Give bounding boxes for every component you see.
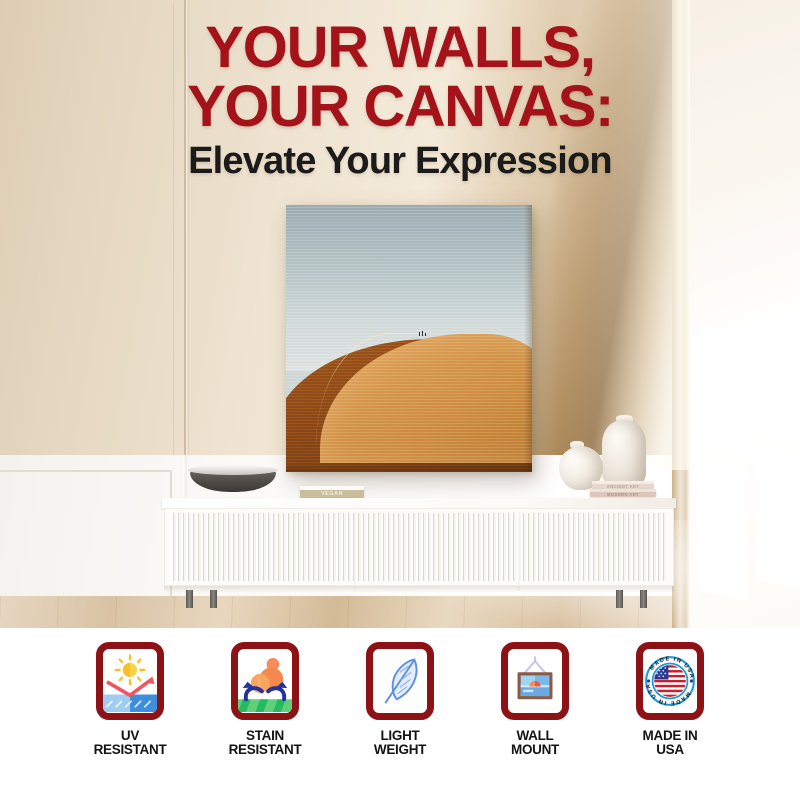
feature-label-line2: RESISTANT bbox=[229, 742, 302, 757]
feature-wall-mount[interactable]: WALL MOUNT bbox=[480, 642, 590, 757]
sunlight-pane bbox=[756, 313, 800, 442]
feature-label-line1: STAIN bbox=[246, 728, 284, 743]
feature-uv-resistant[interactable]: UV RESISTANT bbox=[75, 642, 185, 757]
sideboard-door-divider bbox=[518, 512, 520, 590]
feature-label: UV RESISTANT bbox=[94, 729, 167, 757]
feature-label-line2: WEIGHT bbox=[374, 742, 426, 757]
feature-label: STAIN RESISTANT bbox=[229, 729, 302, 757]
wainscot-panel-moulding bbox=[0, 470, 172, 610]
sideboard-top bbox=[162, 498, 676, 508]
feature-icon-box bbox=[501, 642, 569, 720]
headline-subtitle: Elevate Your Expression bbox=[0, 142, 800, 181]
bowl-rim bbox=[188, 465, 278, 475]
book-vegan-title: VEGAN bbox=[300, 491, 364, 497]
uv-resistant-icon bbox=[103, 649, 157, 713]
sideboard-leg bbox=[186, 590, 193, 608]
book-vegan: VEGAN bbox=[300, 486, 364, 498]
book-modern-art: MODERN ART bbox=[590, 489, 656, 497]
feature-label-line2: RESISTANT bbox=[94, 742, 167, 757]
feature-light-weight[interactable]: LIGHT WEIGHT bbox=[345, 642, 455, 757]
feature-icon-box bbox=[96, 642, 164, 720]
feature-icon-box: MADE IN USA MADE IN USA bbox=[636, 642, 704, 720]
feature-label: MADE IN USA bbox=[643, 729, 698, 757]
feature-label-line1: UV bbox=[121, 728, 139, 743]
sideboard-body bbox=[164, 508, 674, 586]
canvas-bottom-edge bbox=[286, 465, 532, 472]
feature-label-line1: LIGHT bbox=[380, 728, 419, 743]
sideboard-console bbox=[162, 498, 676, 606]
canvas-artwork bbox=[286, 205, 532, 472]
headline-block: YOUR WALLS, YOUR CANVAS: Elevate Your Ex… bbox=[0, 18, 800, 181]
feature-badges-strip: UV RESISTANT bbox=[0, 628, 800, 800]
canvas-side-edge bbox=[524, 205, 532, 472]
book-modern-art-title: MODERN ART bbox=[590, 492, 656, 497]
feature-stain-resistant[interactable]: STAIN RESISTANT bbox=[210, 642, 320, 757]
sideboard-shadow bbox=[164, 586, 674, 593]
sunlight-pane bbox=[756, 447, 800, 588]
feature-label-line2: MOUNT bbox=[511, 742, 559, 757]
sideboard-door-divider bbox=[354, 512, 356, 590]
canvas-weave-texture bbox=[286, 205, 532, 472]
wall-mount-icon bbox=[508, 649, 562, 713]
stain-resistant-icon bbox=[238, 649, 292, 713]
sideboard-leg bbox=[210, 590, 217, 608]
feature-label-line2: USA bbox=[656, 742, 684, 757]
made-in-usa-icon: MADE IN USA MADE IN USA bbox=[643, 649, 697, 713]
feature-label: WALL MOUNT bbox=[511, 729, 559, 757]
feature-label-line1: WALL bbox=[516, 728, 553, 743]
feature-icon-box bbox=[366, 642, 434, 720]
product-poster: VEGAN ANCIENT ART MODERN ART YOU bbox=[0, 0, 800, 800]
sunlight-pane bbox=[700, 461, 748, 601]
sideboard-fluted-front bbox=[171, 513, 667, 581]
headline-line-2: YOUR CANVAS: bbox=[0, 77, 800, 136]
feature-label: LIGHT WEIGHT bbox=[374, 729, 426, 757]
decorative-bowl bbox=[188, 465, 278, 493]
feature-made-in-usa[interactable]: MADE IN USA MADE IN USA MADE IN USA bbox=[615, 642, 725, 757]
light-weight-icon bbox=[373, 649, 427, 713]
vase-large bbox=[602, 420, 646, 488]
sideboard-leg bbox=[640, 590, 647, 608]
sunlight-pane bbox=[700, 325, 748, 455]
feature-label-line1: MADE IN bbox=[643, 728, 698, 743]
book-ancient-art: ANCIENT ART bbox=[592, 481, 654, 489]
sideboard-leg bbox=[616, 590, 623, 608]
feature-icon-box bbox=[231, 642, 299, 720]
headline-line-1: YOUR WALLS, bbox=[0, 18, 800, 77]
